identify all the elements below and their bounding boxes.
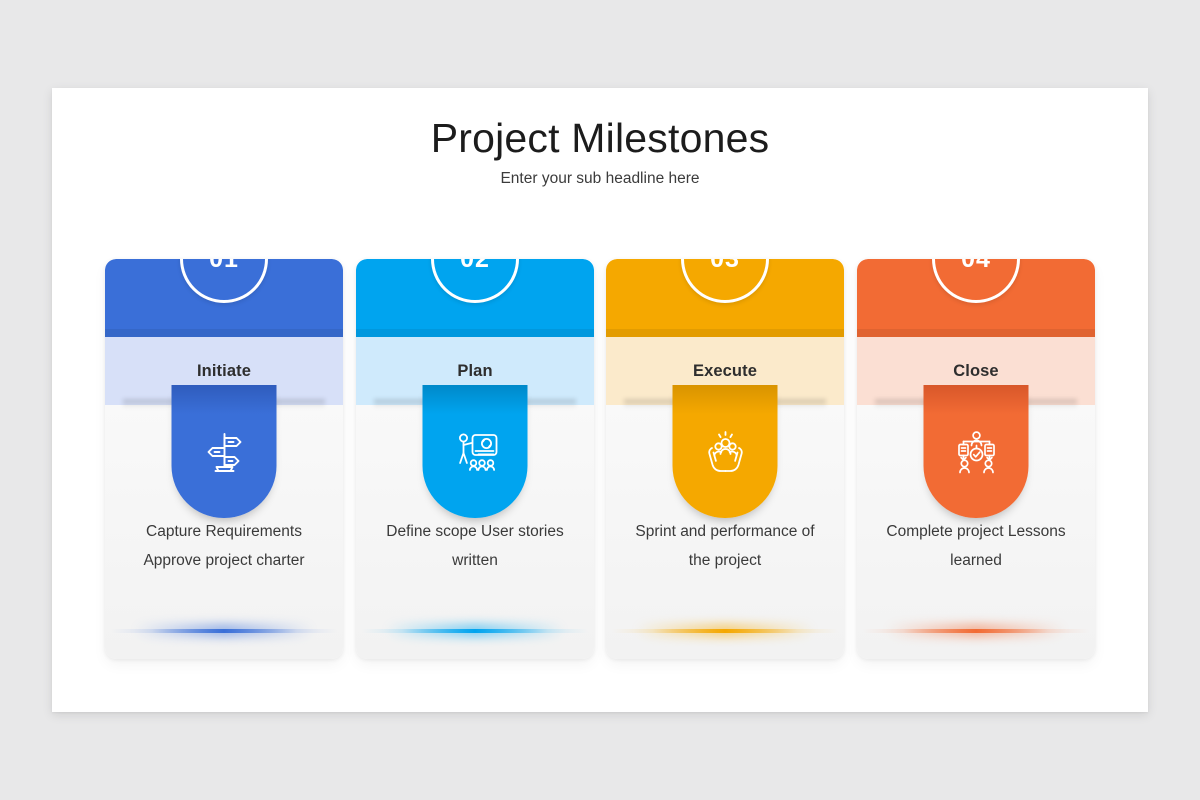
card-body-line1-04: Complete project Lessons xyxy=(869,517,1083,546)
card-body-03: Sprint and performance of the project xyxy=(618,517,832,575)
milestone-number-01: 01 xyxy=(209,259,239,274)
card-body-01: Capture Requirements Approve project cha… xyxy=(117,517,331,575)
card-label-02: Plan xyxy=(457,362,492,381)
tab-shadow-right-01 xyxy=(271,399,325,408)
signpost-icon xyxy=(198,426,250,478)
card-accent-line-02 xyxy=(362,629,588,633)
slide-sheet: Project Milestones Enter your sub headli… xyxy=(52,88,1148,712)
presentation-training-icon xyxy=(448,425,502,479)
card-body-line2-01: Approve project charter xyxy=(117,546,331,575)
tab-shadow-right-04 xyxy=(1023,399,1077,408)
card-accent-line-04 xyxy=(863,629,1089,633)
card-icon-tab-04 xyxy=(924,385,1029,518)
card-body-line1-01: Capture Requirements xyxy=(117,517,331,546)
tab-shadow-left-03 xyxy=(624,399,678,408)
card-body-line2-03: the project xyxy=(618,546,832,575)
card-icon-tab-02 xyxy=(423,385,528,518)
milestone-card-row: Initiate xyxy=(105,259,1095,659)
milestone-number-04: 04 xyxy=(961,259,991,274)
card-icon-tab-01 xyxy=(172,385,277,518)
milestone-number-02: 02 xyxy=(460,259,490,274)
page-subtitle: Enter your sub headline here xyxy=(52,170,1148,188)
hands-holding-team-icon xyxy=(698,425,752,479)
card-accent-line-03 xyxy=(612,629,838,633)
slide-canvas: Project Milestones Enter your sub headli… xyxy=(0,0,1200,800)
tab-shadow-right-03 xyxy=(772,399,826,408)
card-icon-tab-03 xyxy=(673,385,778,518)
card-label-03: Execute xyxy=(693,362,757,381)
milestone-number-03: 03 xyxy=(710,259,740,274)
tab-shadow-left-02 xyxy=(374,399,428,408)
card-body-line2-04: learned xyxy=(869,546,1083,575)
tab-shadow-left-04 xyxy=(875,399,929,408)
milestone-card-02[interactable]: Plan xyxy=(356,259,594,659)
milestone-card-04[interactable]: Close xyxy=(857,259,1095,659)
card-body-04: Complete project Lessons learned xyxy=(869,517,1083,575)
card-body-line1-02: Define scope User stories xyxy=(368,517,582,546)
milestone-card-01[interactable]: Initiate xyxy=(105,259,343,659)
milestone-card-03[interactable]: Execute xyxy=(606,259,844,659)
page-title: Project Milestones xyxy=(52,115,1148,162)
card-label-04: Close xyxy=(953,362,998,381)
card-body-02: Define scope User stories written xyxy=(368,517,582,575)
card-body-line2-02: written xyxy=(368,546,582,575)
tab-shadow-left-01 xyxy=(123,399,177,408)
card-label-01: Initiate xyxy=(197,362,251,381)
org-chart-approved-icon xyxy=(949,425,1003,479)
card-accent-line-01 xyxy=(111,629,337,633)
card-body-line1-03: Sprint and performance of xyxy=(618,517,832,546)
tab-shadow-right-02 xyxy=(522,399,576,408)
